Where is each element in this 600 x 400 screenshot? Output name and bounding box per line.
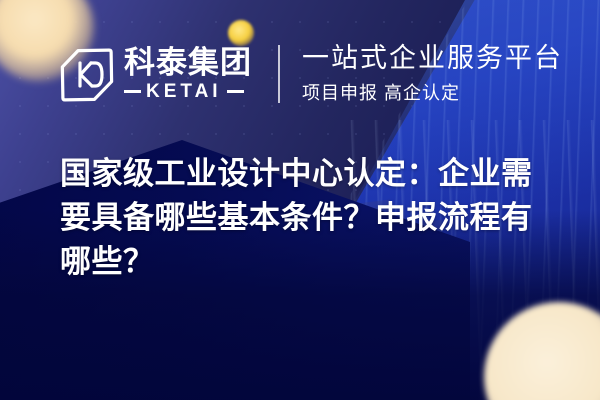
promo-banner: 科泰集团 KETAI 一站式企业服务平台 项目申报 高企认定 国家级工业设计中心… xyxy=(0,0,600,400)
slogan-sub-text: 项目申报 高企认定 xyxy=(302,79,563,105)
header-vertical-divider xyxy=(278,45,280,103)
logo-wordmark: 科泰集团 KETAI xyxy=(124,47,252,102)
slogan-block: 一站式企业服务平台 项目申报 高企认定 xyxy=(302,43,563,104)
logo-company-name-en: KETAI xyxy=(146,82,222,101)
ketai-diamond-kd-monogram-icon xyxy=(58,46,114,102)
logo-company-name-cn: 科泰集团 xyxy=(124,47,252,80)
logo-dash-right-icon xyxy=(227,90,244,93)
slogan-main-text: 一站式企业服务平台 xyxy=(302,43,563,73)
logo-dash-left-icon xyxy=(124,90,141,93)
banner-header: 科泰集团 KETAI 一站式企业服务平台 项目申报 高企认定 xyxy=(58,38,563,110)
logo-company-name-en-row: KETAI xyxy=(124,82,252,101)
page-title: 国家级工业设计中心认定：企业需要具备哪些基本条件？申报流程有哪些？ xyxy=(60,152,560,284)
